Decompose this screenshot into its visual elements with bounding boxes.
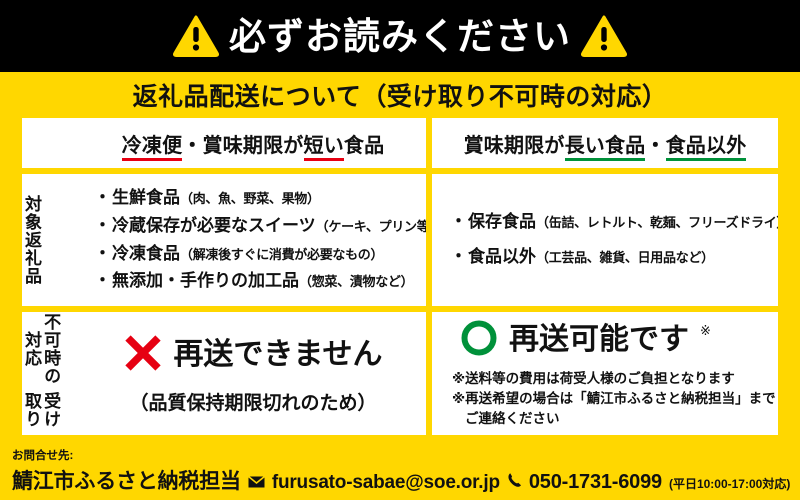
list-item-main: 食品以外 [468,248,536,267]
contact-org: 鯖江市ふるさと納税担当 [12,465,241,495]
note-line: ※再送希望の場合は「鯖江市ふるさと納税担当」まで [452,390,770,408]
list-item-sub: （解凍後すぐに消費が必要なもの） [180,248,383,262]
bullet-dot-icon: ・ [450,213,467,232]
list-item-main: 生鮮食品 [112,189,180,208]
row-label-target-items: 対象返礼品 [22,174,80,306]
column-header-short-shelf-life: 冷凍便・賞味期限が短い食品 [80,118,426,168]
subtitle-bar: 返礼品配送について（受け取り不可時の対応） [0,72,800,118]
row-label-text: 対象返礼品 [22,195,41,285]
bullet-dot-icon: ・ [94,245,111,264]
bullet-dot-icon: ・ [94,272,111,291]
list-item-sub: （ケーキ、プリン等） [316,220,426,234]
warning-triangle-icon [173,15,219,57]
row-label-undeliverable-response: 不可時の対応 受け取り [22,312,80,435]
response-main-text: 再送可能です [509,325,689,355]
page-title: 必ずお読みください [229,18,571,55]
notice-poster: 必ずお読みください 返礼品配送について（受け取り不可時の対応） 冷凍便・賞味期限… [0,0,800,500]
row-label-text-col1: 不可時の対応 [22,312,60,386]
col-head-part: 短い [304,135,344,161]
warning-triangle-icon [581,15,627,57]
list-item-sub: （惣菜、漬物など） [299,275,413,289]
circle-mark-icon [460,319,498,362]
list-item: ・冷凍食品（解凍後すぐに消費が必要なもの） [94,245,418,264]
list-item-main: 冷蔵保存が必要なスイーツ [112,217,316,236]
list-item: ・生鮮食品（肉、魚、野菜、果物） [94,189,418,208]
list-item: ・無添加・手作りの加工品（惣菜、漬物など） [94,272,418,291]
list-item-sub: （肉、魚、野菜、果物） [180,192,320,206]
list-item: ・冷蔵保存が必要なスイーツ（ケーキ、プリン等） [94,217,418,236]
col-head-part: ・賞味期限が [182,135,303,157]
footer-contact-bar: お問合せ先: 鯖江市ふるさと納税担当 furusato-sabae@soe.or… [0,441,800,500]
contact-hours: (平日10:00-17:00対応) [669,475,790,492]
list-item-sub: （缶詰、レトルト、乾麺、フリーズドライ） [536,216,778,230]
bullet-dot-icon: ・ [450,248,467,267]
column-header-long-shelf-life: 賞味期限が長い食品・食品以外 [432,118,778,168]
contact-email[interactable]: furusato-sabae@soe.or.jp [272,472,500,494]
target-items-long-shelf-life: ・保存食品（缶詰、レトルト、乾麺、フリーズドライ） ・食品以外（工芸品、雑貨、日… [432,174,778,306]
list-item-main: 無添加・手作りの加工品 [112,272,299,291]
list-item-main: 冷凍食品 [112,245,180,264]
response-notes: ※送料等の費用は荷受人様のご負担となります ※再送希望の場合は「鯖江市ふるさと納… [452,370,770,429]
list-item-sub: （工芸品、雑貨、日用品など） [536,251,714,265]
response-short-shelf-life: 再送できません （品質保持期限切れのため） [80,312,426,435]
contact-label: お問合せ先: [12,450,788,464]
list-item-main: 保存食品 [468,213,536,232]
note-line: ご連絡ください [452,410,770,428]
note-line: ※送料等の費用は荷受人様のご負担となります [452,370,770,388]
target-items-short-shelf-life: ・生鮮食品（肉、魚、野菜、果物） ・冷蔵保存が必要なスイーツ（ケーキ、プリン等）… [80,174,426,306]
reference-mark: ※ [700,323,711,339]
col-head-part: 食品 [344,135,384,157]
response-long-shelf-life: 再送可能です ※ ※送料等の費用は荷受人様のご負担となります ※再送希望の場合は… [432,312,778,435]
info-table: 冷凍便・賞味期限が短い食品 賞味期限が長い食品・食品以外 対象返礼品 ・生鮮食品… [22,118,778,435]
col-head-part: ・ [645,135,665,157]
col-head-part: 冷凍便 [122,135,183,161]
header-bar: 必ずお読みください [0,0,800,72]
response-sub-text: （品質保持期限切れのため） [129,388,376,415]
list-item: ・食品以外（工芸品、雑貨、日用品など） [450,248,770,267]
bullet-dot-icon: ・ [94,217,111,236]
subtitle-text: 返礼品配送について（受け取り不可時の対応） [133,77,668,113]
x-mark-icon [123,333,163,378]
row-label-text-col2: 受け取り [22,386,60,435]
contact-phone[interactable]: 050-1731-6099 [529,471,662,494]
table-corner-cell [22,118,80,168]
phone-icon [507,472,522,492]
col-head-part: 食品以外 [666,135,747,161]
list-item: ・保存食品（缶詰、レトルト、乾麺、フリーズドライ） [450,213,770,232]
mail-icon [248,476,265,491]
col-head-part: 長い食品 [565,135,646,161]
response-main-text: 再送できません [173,340,382,370]
col-head-part: 賞味期限が [464,135,565,157]
bullet-dot-icon: ・ [94,189,111,208]
